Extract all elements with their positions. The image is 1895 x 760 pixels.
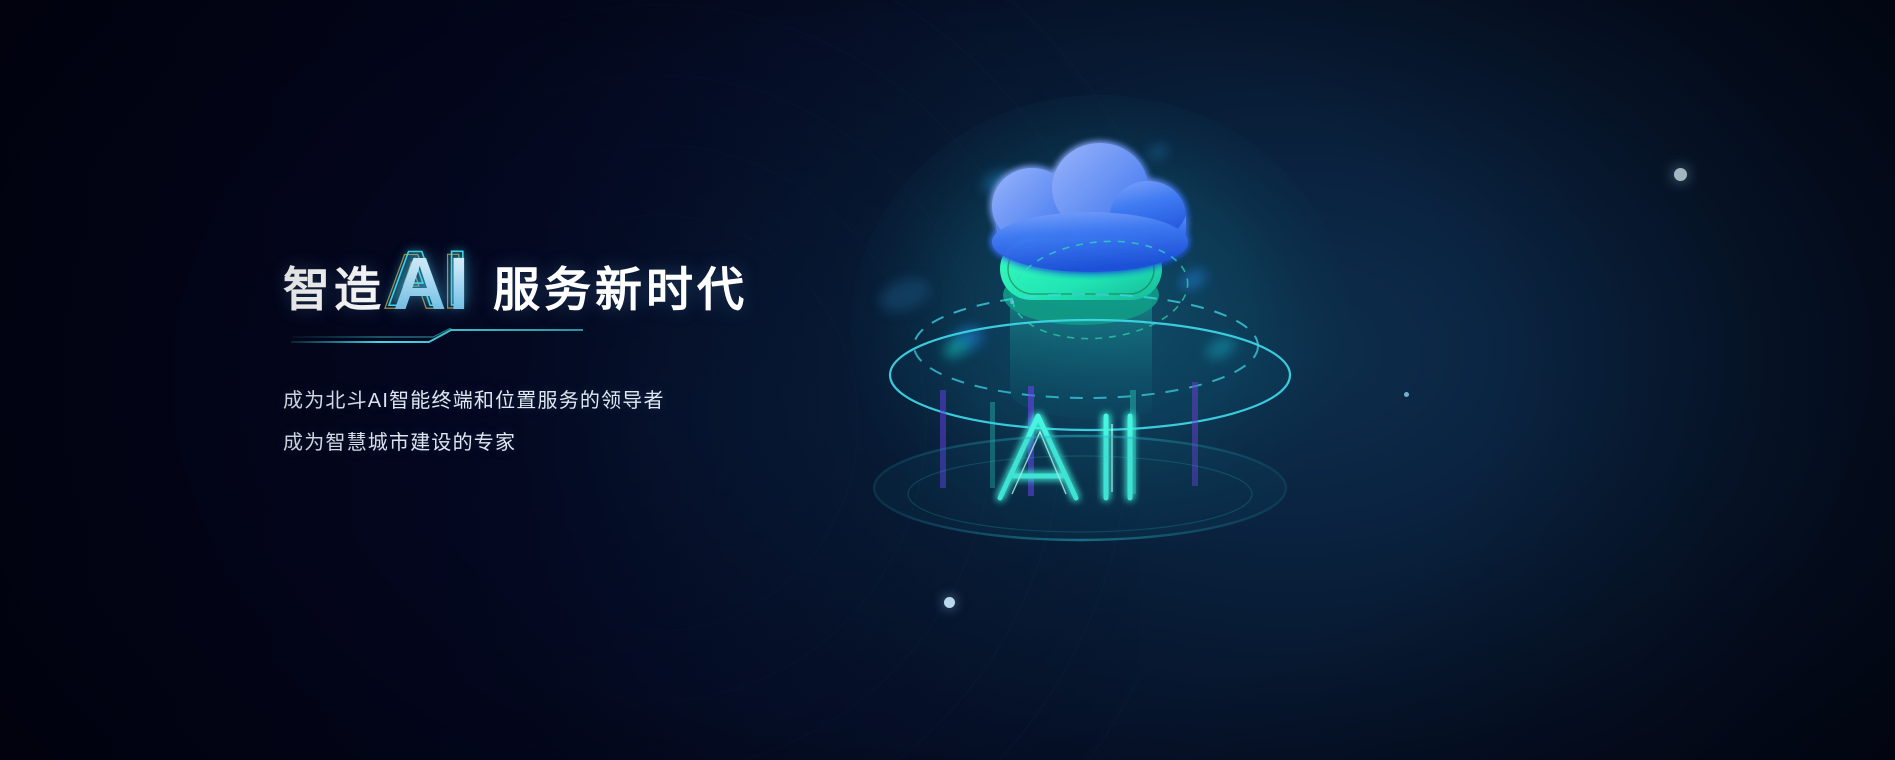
- background-vignette: [0, 0, 1895, 760]
- hero-banner: 智造AIAIAI服务新时代: [0, 0, 1895, 760]
